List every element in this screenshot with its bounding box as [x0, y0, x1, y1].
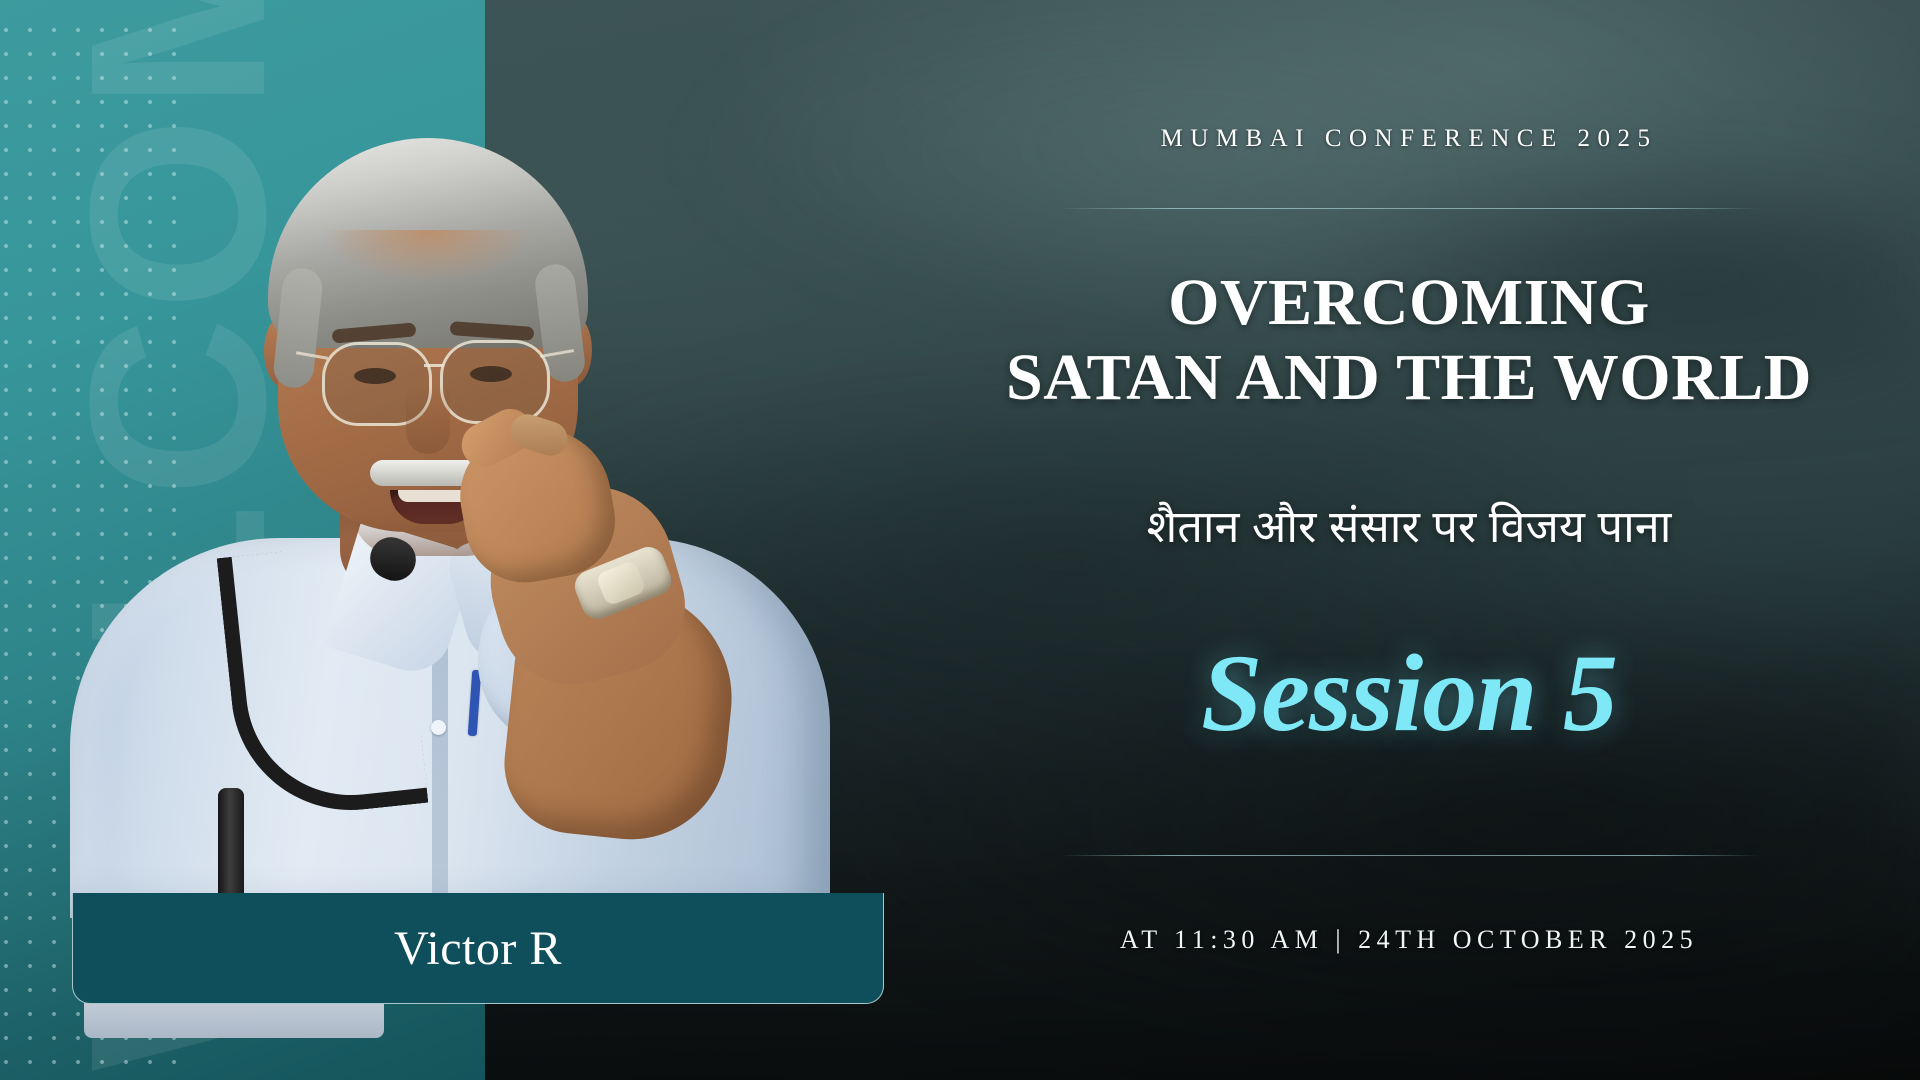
- title-line-2: SATAN AND THE WORLD: [960, 340, 1858, 415]
- divider-top: [1060, 208, 1760, 209]
- speaker-name-label: Victor R: [394, 921, 562, 976]
- title-line-1: OVERCOMING: [960, 265, 1858, 340]
- hindi-subtitle: शैतान और संसार पर विजय पाना: [960, 495, 1858, 556]
- slide-canvas: WELCOME: [0, 0, 1920, 1080]
- eyeglass-lens-right: [440, 340, 550, 424]
- session-label: Session 5: [960, 630, 1858, 757]
- nose: [406, 384, 450, 454]
- shirt-button: [431, 720, 446, 735]
- eyeglass-bridge: [424, 364, 444, 367]
- speaker-name-plate: Victor R: [72, 893, 884, 1004]
- right-content-column: MUMBAI CONFERENCE 2025 OVERCOMING SATAN …: [960, 0, 1920, 1080]
- divider-bottom: [1060, 855, 1760, 856]
- conference-kicker: MUMBAI CONFERENCE 2025: [960, 125, 1858, 153]
- page-title: OVERCOMING SATAN AND THE WORLD: [960, 265, 1858, 415]
- speaker-photo: [40, 118, 840, 908]
- datetime-label: AT 11:30 AM | 24TH OCTOBER 2025: [960, 925, 1858, 955]
